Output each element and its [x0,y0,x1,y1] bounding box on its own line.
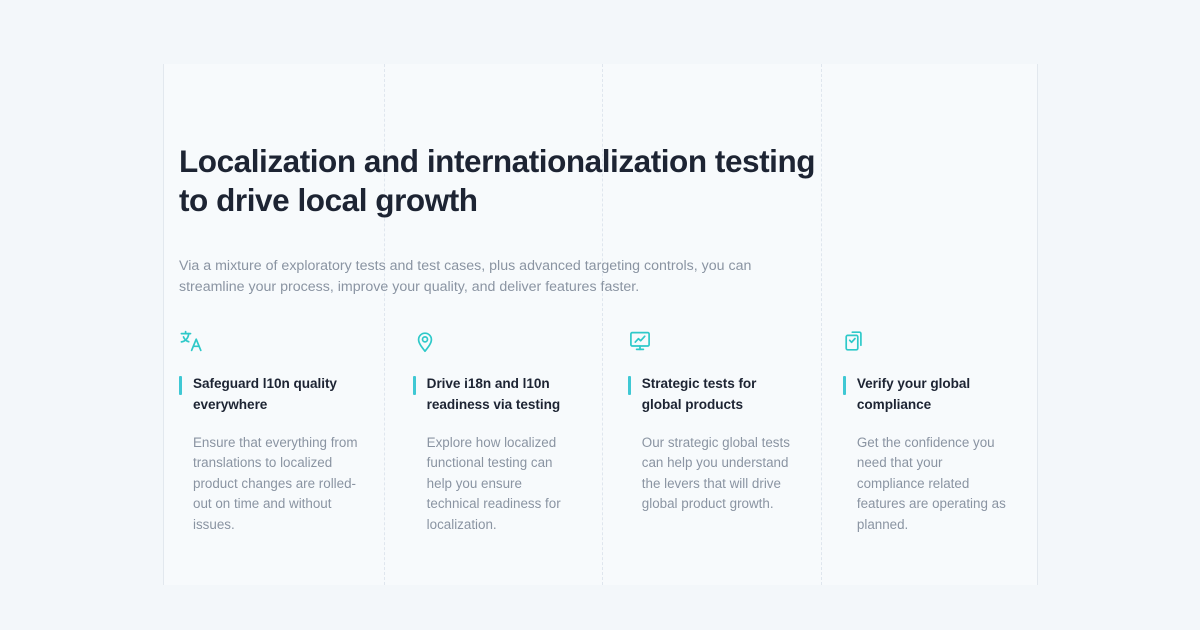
feature-title: Drive i18n and l10n readiness via testin… [427,374,577,415]
feature-item-global-compliance: Verify your global compliance Get the co… [824,329,1039,535]
feature-title-wrap: Safeguard l10n quality everywhere [179,374,362,415]
presentation-chart-icon [628,329,652,353]
feature-title-wrap: Drive i18n and l10n readiness via testin… [413,374,577,415]
translate-icon [179,329,203,353]
feature-body: Get the confidence you need that your co… [843,433,1007,535]
accent-bar [413,376,416,395]
accent-bar [628,376,631,395]
clipboard-check-icon [843,329,867,353]
feature-body: Explore how localized functional testing… [413,433,577,535]
feature-title: Verify your global compliance [857,374,1007,415]
marketing-hero-page: Localization and internationalization te… [0,0,1200,630]
feature-item-safeguard-l10n-quality: Safeguard l10n quality everywhere Ensure… [179,329,394,535]
feature-title-wrap: Verify your global compliance [843,374,1007,415]
accent-bar [843,376,846,395]
page-subtitle: Via a mixture of exploratory tests and t… [179,256,811,298]
feature-title-wrap: Strategic tests for global products [628,374,792,415]
map-pin-icon [413,329,437,353]
page-title: Localization and internationalization te… [179,142,819,220]
content-inner: Localization and internationalization te… [179,64,1039,585]
feature-title: Strategic tests for global products [642,374,792,415]
feature-body: Ensure that everything from translations… [179,433,362,535]
content-panel: Localization and internationalization te… [163,64,1038,585]
feature-body: Our strategic global tests can help you … [628,433,792,515]
feature-title: Safeguard l10n quality everywhere [193,374,362,415]
accent-bar [179,376,182,395]
feature-item-strategic-tests: Strategic tests for global products Our … [609,329,824,535]
feature-item-i18n-l10n-readiness: Drive i18n and l10n readiness via testin… [394,329,609,535]
feature-list: Safeguard l10n quality everywhere Ensure… [179,329,1039,535]
